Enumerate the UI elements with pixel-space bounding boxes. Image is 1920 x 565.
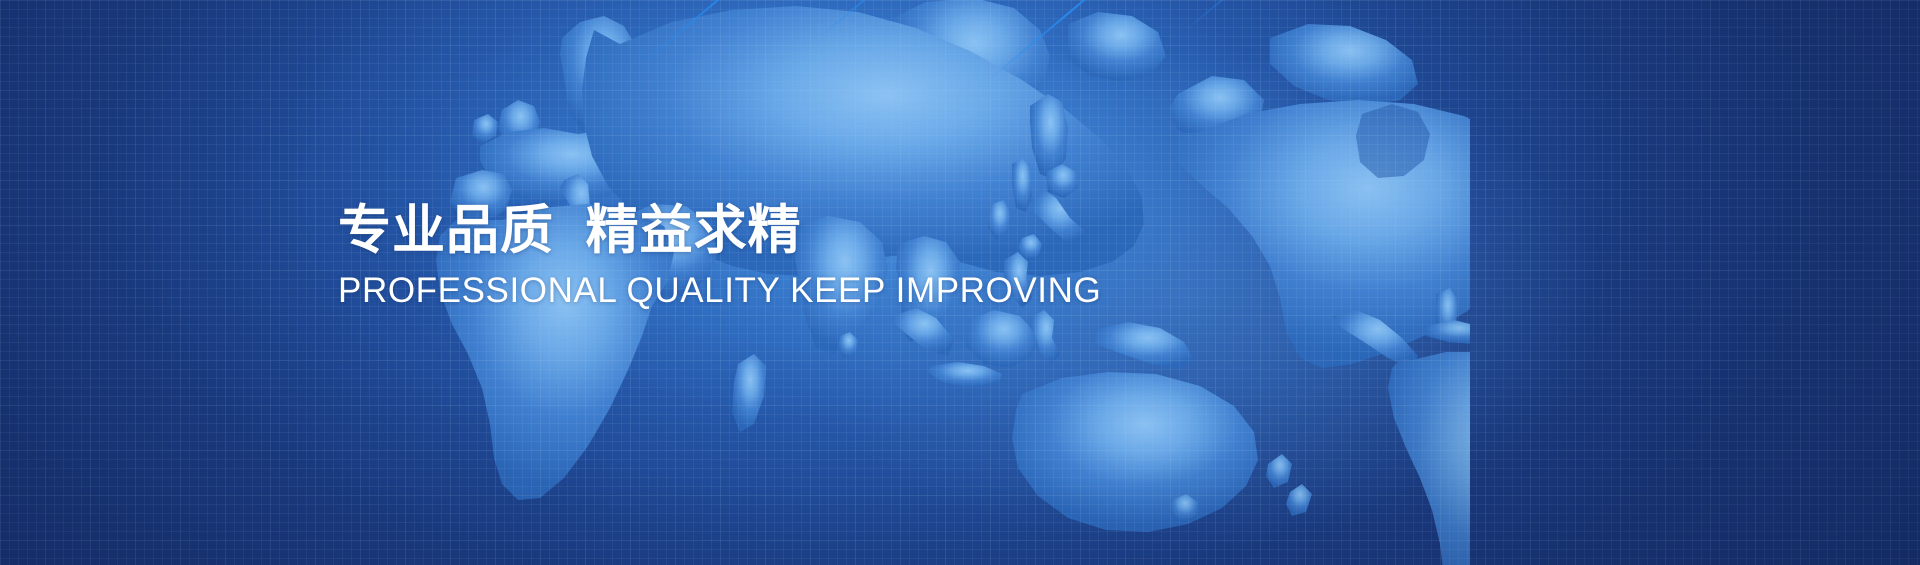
headline-english: PROFESSIONAL QUALITY KEEP IMPROVING [338,266,1238,312]
headline-chinese: 专业品质 精益求精 [338,196,1238,266]
headline-block: 专业品质 精益求精 PROFESSIONAL QUALITY KEEP IMPR… [338,196,1238,312]
hero-banner: 专业品质 精益求精 PROFESSIONAL QUALITY KEEP IMPR… [0,0,1920,565]
